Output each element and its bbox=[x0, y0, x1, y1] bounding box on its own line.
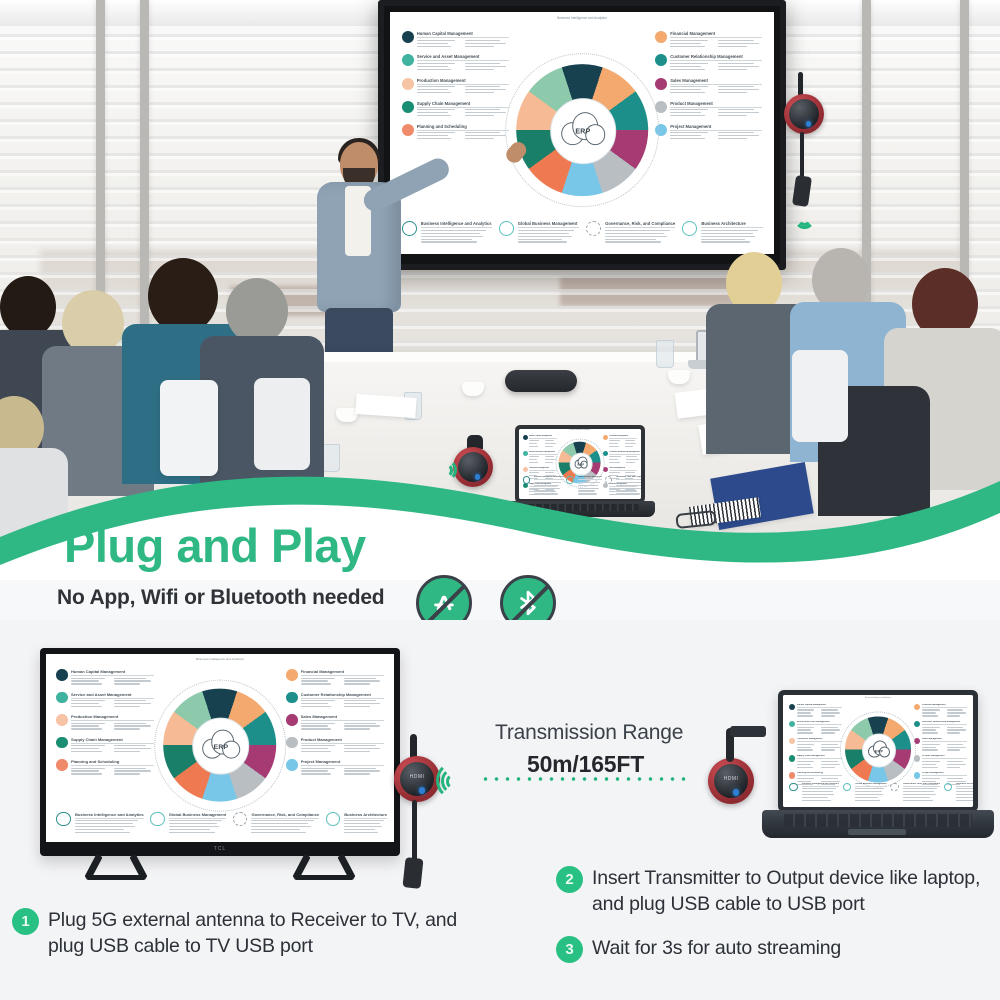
erp-group: Production Management bbox=[789, 738, 842, 752]
erp-bottom-icon bbox=[586, 221, 601, 236]
conference-speakerphone bbox=[505, 370, 577, 392]
erp-bottom-group: Global Business Management bbox=[843, 783, 887, 803]
erp-bottom-title: Business Intelligence and Analytics bbox=[421, 221, 492, 228]
erp-bottom-icon bbox=[150, 812, 165, 827]
erp-group: Service and Asset Management bbox=[789, 721, 842, 735]
erp-wheel-hub: ERP bbox=[550, 98, 617, 165]
erp-bottom-title: Business Intelligence and Analytics bbox=[75, 812, 144, 819]
erp-bottom-title: Global Business Management bbox=[169, 812, 227, 819]
erp-bottom-icon bbox=[233, 812, 248, 827]
erp-group-title: Production Management bbox=[71, 714, 154, 721]
erp-group-icon bbox=[789, 721, 795, 727]
erp-group-icon bbox=[402, 31, 414, 43]
erp-group-icon bbox=[56, 759, 68, 771]
erp-group-icon bbox=[286, 714, 298, 726]
erp-group-icon bbox=[789, 704, 795, 710]
dongle-led bbox=[419, 787, 425, 793]
erp-group-title: Production Management bbox=[797, 738, 842, 742]
erp-group-title: Project Management bbox=[670, 124, 762, 131]
erp-group-title: Financial Management bbox=[301, 669, 384, 676]
erp-group-icon bbox=[286, 759, 298, 771]
tv-brand-label: TCL bbox=[214, 846, 226, 852]
erp-wheel-chart: ERP bbox=[840, 711, 916, 787]
erp-group-icon bbox=[286, 669, 298, 681]
office-chair-right-1 bbox=[792, 350, 848, 442]
step-2-text: Insert Transmitter to Output device like… bbox=[592, 866, 992, 918]
erp-bottom-group: Governance, Risk, and Compliance bbox=[586, 221, 675, 244]
erp-bottom-icon bbox=[789, 783, 798, 792]
usb-cable-plug bbox=[402, 857, 423, 889]
erp-group: Service and Asset Management bbox=[56, 692, 153, 709]
presenter-person bbox=[305, 142, 415, 372]
erp-group-title: Supply Chain Management bbox=[71, 737, 154, 744]
step-2: 2 Insert Transmitter to Output device li… bbox=[556, 866, 992, 918]
erp-group: Financial Management bbox=[655, 31, 763, 48]
transmission-range-value: 50m/165FT bbox=[527, 751, 644, 778]
erp-group: Service and Asset Management bbox=[402, 54, 510, 71]
erp-group-icon bbox=[286, 737, 298, 749]
erp-group: Product Management bbox=[286, 737, 383, 754]
receiver-on-tv bbox=[782, 72, 826, 222]
tv-stand-legs bbox=[40, 854, 400, 880]
erp-group-title: Financial Management bbox=[922, 704, 967, 708]
erp-group: Human Capital Management bbox=[523, 435, 557, 449]
erp-bottom-title: Business Architecture bbox=[344, 812, 387, 819]
erp-group: Customer Relationship Management bbox=[286, 692, 383, 709]
erp-bottom-icon bbox=[890, 783, 899, 792]
erp-group: Sales Management bbox=[914, 738, 967, 752]
erp-group-title: Customer Relationship Management bbox=[301, 692, 384, 699]
erp-group-title: Sales Management bbox=[922, 738, 967, 742]
erp-left-column: Human Capital Management Service and Ass… bbox=[789, 704, 842, 789]
wall-mounted-tv: Business Intelligence and Analytics Huma… bbox=[378, 0, 786, 270]
coffee-cup-2 bbox=[668, 370, 690, 384]
dongle-led bbox=[733, 789, 739, 795]
erp-group: Financial Management bbox=[603, 435, 637, 449]
step-3-text: Wait for 3s for auto streaming bbox=[592, 936, 841, 962]
erp-group-icon bbox=[523, 435, 528, 440]
erp-group: Human Capital Management bbox=[789, 704, 842, 718]
dongle-brand-label: HDMI bbox=[724, 776, 739, 782]
erp-group-title: Product Management bbox=[301, 737, 384, 744]
step-1-text: Plug 5G external antenna to Receiver to … bbox=[48, 908, 482, 960]
erp-group-title: Product Management bbox=[670, 101, 762, 108]
receiver-signal-waves bbox=[794, 200, 812, 226]
erp-bottom-group: Governance, Risk, and Compliance bbox=[890, 783, 940, 803]
erp-group-title: Service and Asset Management bbox=[417, 54, 509, 61]
erp-wheel-chart: ERP bbox=[154, 680, 286, 812]
erp-group: Customer Relationship Management bbox=[655, 54, 763, 71]
erp-group-icon bbox=[655, 31, 667, 43]
erp-bottom-row: Business Intelligence and Analytics Glob… bbox=[402, 221, 763, 244]
erp-bottom-group: Global Business Management bbox=[150, 812, 226, 835]
erp-group: Project Management bbox=[655, 124, 763, 141]
erp-group-icon bbox=[402, 101, 414, 113]
step-1: 1 Plug 5G external antenna to Receiver t… bbox=[12, 908, 482, 960]
page-subtitle: No App, Wifi or Bluetooth needed bbox=[57, 586, 384, 610]
step-3: 3 Wait for 3s for auto streaming bbox=[556, 936, 992, 963]
erp-bottom-title: Governance, Risk, and Compliance bbox=[605, 221, 675, 228]
laptop-lid: Business Intelligence and Analytics Huma… bbox=[778, 690, 978, 812]
erp-top-caption: Business Intelligence and Analytics bbox=[557, 16, 607, 20]
erp-group-title: Service and Asset Management bbox=[797, 721, 842, 725]
erp-group-title: Sales Management bbox=[301, 714, 384, 721]
erp-group: Product Management bbox=[655, 101, 763, 118]
erp-bottom-group: Business Architecture bbox=[326, 812, 387, 835]
erp-group: Customer Relationship Management bbox=[914, 721, 967, 735]
erp-bottom-title: Business Architecture bbox=[956, 783, 973, 787]
dongle-led bbox=[806, 121, 812, 127]
erp-center-label: ERP bbox=[214, 744, 229, 751]
erp-dashboard-tv: Business Intelligence and Analytics Huma… bbox=[46, 654, 394, 842]
tv-leg-right bbox=[294, 854, 354, 878]
erp-dashboard-laptop: Business Intelligence and Analytics Huma… bbox=[783, 695, 973, 807]
erp-wheel-hub: ERP bbox=[862, 734, 896, 768]
erp-group-title: Project Management bbox=[301, 759, 384, 766]
erp-bottom-icon bbox=[682, 221, 697, 236]
erp-group-icon bbox=[914, 704, 920, 710]
erp-group-title: Human Capital Management bbox=[417, 31, 509, 38]
erp-group: Production Management bbox=[402, 78, 510, 95]
erp-right-column: Financial Management Customer Relationsh… bbox=[655, 31, 763, 146]
erp-group: Planning and Scheduling bbox=[402, 124, 510, 141]
erp-bottom-group: Business Intelligence and Analytics bbox=[56, 812, 143, 835]
erp-bottom-row: Business Intelligence and Analytics Glob… bbox=[789, 783, 968, 803]
erp-group-title: Financial Management bbox=[670, 31, 762, 38]
erp-group: Human Capital Management bbox=[402, 31, 510, 48]
erp-bottom-title: Business Intelligence and Analytics bbox=[802, 783, 839, 787]
erp-bottom-title: Governance, Risk, and Compliance bbox=[251, 812, 319, 819]
step-1-number: 1 bbox=[12, 908, 39, 935]
tv-screen-content: Business Intelligence and Analytics Huma… bbox=[390, 12, 774, 254]
erp-center-label: ERP bbox=[575, 129, 590, 136]
erp-group-title: Service and Asset Management bbox=[71, 692, 154, 699]
erp-bottom-icon bbox=[326, 812, 341, 827]
erp-group-title: Project Management bbox=[922, 772, 967, 776]
erp-group: Sales Management bbox=[286, 714, 383, 731]
erp-group: Supply Chain Management bbox=[56, 737, 153, 754]
erp-group-icon bbox=[402, 54, 414, 66]
erp-group-title: Supply Chain Management bbox=[797, 755, 842, 759]
coffee-cup-1 bbox=[462, 382, 484, 396]
laptop-keyboard[interactable] bbox=[784, 814, 972, 827]
usb-connector-head bbox=[730, 726, 766, 737]
erp-group-icon bbox=[56, 737, 68, 749]
erp-group: Financial Management bbox=[914, 704, 967, 718]
erp-right-column: Financial Management Customer Relationsh… bbox=[914, 704, 967, 789]
tv2-screen: Business Intelligence and Analytics Huma… bbox=[46, 654, 394, 842]
document-5 bbox=[355, 394, 416, 418]
erp-group: Project Management bbox=[286, 759, 383, 776]
erp-group-title: Financial Management bbox=[609, 435, 637, 439]
laptop-base bbox=[762, 810, 994, 838]
erp-bottom-title: Global Business Management bbox=[518, 221, 579, 228]
erp-bottom-icon bbox=[944, 783, 953, 792]
erp-top-caption: Business Intelligence and Analytics bbox=[570, 430, 591, 431]
erp-group: Production Management bbox=[56, 714, 153, 731]
erp-wheel-chart: ERP bbox=[505, 53, 659, 207]
erp-bottom-group: Business Architecture bbox=[944, 783, 973, 803]
step-3-number: 3 bbox=[556, 936, 583, 963]
erp-group: Planning and Scheduling bbox=[56, 759, 153, 776]
erp-group-icon bbox=[286, 692, 298, 704]
erp-group-title: Product Management bbox=[922, 755, 967, 759]
erp-bottom-group: Governance, Risk, and Compliance bbox=[233, 812, 319, 835]
erp-bottom-title: Global Business Management bbox=[855, 783, 886, 787]
erp-group: Supply Chain Management bbox=[402, 101, 510, 118]
transmission-range-label: Transmission Range bbox=[495, 721, 683, 745]
erp-group-title: Production Management bbox=[417, 78, 509, 85]
tv-leg-left bbox=[86, 854, 146, 878]
erp-group-title: Sales Management bbox=[670, 78, 762, 85]
erp-group-icon bbox=[56, 669, 68, 681]
erp-bottom-group: Business Architecture bbox=[682, 221, 762, 244]
erp-group: Supply Chain Management bbox=[789, 755, 842, 769]
dongle-brand-label: HDMI bbox=[410, 774, 425, 780]
erp-group: Financial Management bbox=[286, 669, 383, 686]
erp-group-title: Human Capital Management bbox=[71, 669, 154, 676]
erp-group-icon bbox=[789, 772, 795, 778]
erp-group-title: Human Capital Management bbox=[797, 704, 842, 708]
wireless-receiver-dongle[interactable]: HDMI bbox=[394, 756, 440, 802]
erp-dashboard-wall-tv: Business Intelligence and Analytics Huma… bbox=[390, 12, 774, 254]
erp-group-icon bbox=[56, 714, 68, 726]
erp-top-caption: Business Intelligence and Analytics bbox=[196, 657, 244, 661]
page-title: Plug and Play bbox=[64, 518, 366, 573]
erp-right-column: Financial Management Customer Relationsh… bbox=[286, 669, 383, 782]
erp-group: Human Capital Management bbox=[56, 669, 153, 686]
erp-group: Sales Management bbox=[655, 78, 763, 95]
erp-group-icon bbox=[789, 738, 795, 744]
erp-top-caption: Business Intelligence and Analytics bbox=[865, 697, 891, 699]
wireless-receiver-dongle bbox=[784, 94, 824, 134]
step-2-number: 2 bbox=[556, 866, 583, 893]
erp-group-title: Human Capital Management bbox=[529, 435, 557, 439]
erp-group-icon bbox=[402, 78, 414, 90]
erp-left-column: Human Capital Management Service and Ass… bbox=[402, 31, 510, 146]
erp-group-icon bbox=[402, 124, 414, 136]
erp-group-title: Customer Relationship Management bbox=[670, 54, 762, 61]
erp-bottom-row: Business Intelligence and Analytics Glob… bbox=[56, 812, 383, 835]
erp-bottom-title: Governance, Risk, and Compliance bbox=[903, 783, 940, 787]
erp-group-icon bbox=[789, 755, 795, 761]
erp-bottom-icon bbox=[843, 783, 852, 792]
erp-bottom-title: Business Architecture bbox=[701, 221, 762, 228]
erp-bottom-icon bbox=[499, 221, 514, 236]
laptop-with-transmitter: Business Intelligence and Analytics Huma… bbox=[762, 690, 994, 845]
erp-group-title: Planning and Scheduling bbox=[797, 772, 842, 776]
erp-bottom-group: Global Business Management bbox=[499, 221, 579, 244]
tv-with-receiver: Business Intelligence and Analytics Huma… bbox=[40, 648, 400, 856]
laptop-screen: Business Intelligence and Analytics Huma… bbox=[783, 695, 973, 807]
laptop-trackpad[interactable] bbox=[848, 829, 906, 835]
wireless-transmitter-dongle[interactable]: HDMI bbox=[708, 758, 754, 804]
erp-bottom-group: Business Intelligence and Analytics bbox=[402, 221, 492, 244]
erp-group-title: Customer Relationship Management bbox=[922, 721, 967, 725]
erp-bottom-group: Business Intelligence and Analytics bbox=[789, 783, 839, 803]
water-glass-2 bbox=[656, 340, 674, 368]
erp-group: Product Management bbox=[914, 755, 967, 769]
erp-left-column: Human Capital Management Service and Ass… bbox=[56, 669, 153, 782]
product-marketing-image: Business Intelligence and Analytics Huma… bbox=[0, 0, 1000, 1000]
erp-group-title: Planning and Scheduling bbox=[71, 759, 154, 766]
erp-group-title: Planning and Scheduling bbox=[417, 124, 509, 131]
erp-group-icon bbox=[56, 692, 68, 704]
receiver-wifi-waves bbox=[448, 757, 484, 801]
erp-bottom-icon bbox=[56, 812, 71, 827]
erp-group-title: Supply Chain Management bbox=[417, 101, 509, 108]
erp-center-label: ERP bbox=[875, 749, 883, 753]
